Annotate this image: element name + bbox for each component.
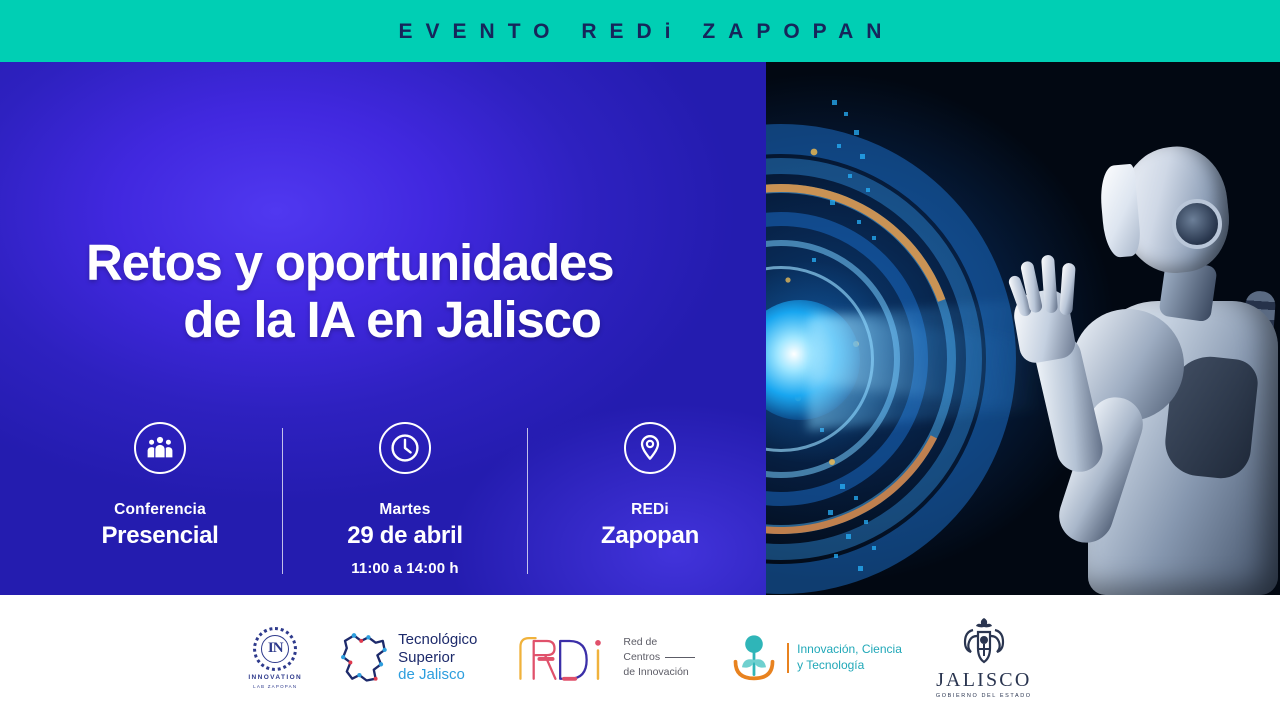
redi-wordmark-icon — [511, 629, 615, 687]
detail-time-range: 11:00 a 14:00 h — [351, 560, 458, 577]
tsj-line-3: de Jalisco — [398, 666, 477, 684]
logo-redi: Red de Centros de Innovación — [511, 629, 695, 687]
hero-section: Retos y oportunidades de la IA en Jalisc… — [0, 62, 1280, 595]
logo-innovation-badge: IN INNOVATION LAB ZAPOPAN — [248, 627, 302, 689]
banner-title: EVENTO REDi ZAPOPAN — [386, 20, 895, 44]
location-pin-icon — [624, 422, 676, 474]
clock-icon — [379, 422, 431, 474]
tsj-line-1: Tecnológico — [398, 631, 477, 649]
redi-line-1: Red de — [623, 635, 695, 650]
detail-sub-label: Martes — [379, 500, 430, 521]
detail-item-modality: Conferencia Presencial — [60, 422, 260, 552]
jalisco-wordmark: JALISCO — [936, 669, 1031, 692]
innovation-subtext: LAB ZAPOPAN — [253, 684, 297, 689]
logo-tecnologico-superior-jalisco: Tecnológico Superior de Jalisco — [336, 630, 477, 686]
event-poster: EVENTO REDi ZAPOPAN Retos y oportunidade… — [0, 0, 1280, 720]
divider-2 — [527, 428, 529, 574]
redi-tagline: Red de Centros de Innovación — [623, 635, 695, 680]
tsj-wordmark: Tecnológico Superior de Jalisco — [398, 631, 477, 684]
people-group-icon — [134, 422, 186, 474]
detail-item-date: Martes 29 de abril 11:00 a 14:00 h — [305, 422, 505, 577]
event-banner: EVENTO REDi ZAPOPAN — [0, 0, 1280, 63]
detail-main-label: Zapopan — [601, 521, 699, 552]
detail-main-label: Presencial — [101, 521, 218, 552]
tsj-line-2: Superior — [398, 649, 477, 667]
jalisco-map-icon — [336, 630, 390, 686]
plant-sprout-icon — [729, 632, 779, 684]
detail-item-venue: REDi Zapopan — [550, 422, 750, 552]
ict-line-2: y Tecnología — [797, 658, 902, 674]
ict-line-1: Innovación, Ciencia — [797, 642, 902, 658]
robot-figure — [988, 95, 1280, 595]
gear-badge-icon: IN — [253, 627, 297, 671]
redi-rule — [665, 657, 695, 658]
innovation-wordmark: INNOVATION — [248, 674, 302, 681]
detail-sub-label: Conferencia — [114, 500, 206, 521]
title-line-2: de la IA en Jalisco — [86, 291, 698, 348]
divider-1 — [282, 428, 284, 574]
redi-line-2: Centros — [623, 650, 660, 665]
jalisco-coat-of-arms-icon — [957, 616, 1011, 668]
sponsor-logo-bar: IN INNOVATION LAB ZAPOPAN Tecnológico S — [0, 595, 1280, 720]
title-line-1: Retos y oportunidades — [86, 234, 613, 291]
detail-sub-label: REDi — [631, 500, 669, 521]
logo-jalisco-gobierno: JALISCO GOBIERNO DEL ESTADO — [936, 616, 1032, 699]
ict-divider — [787, 643, 789, 673]
hero-robot-image — [766, 62, 1280, 595]
redi-line-3: de Innovación — [623, 665, 695, 680]
jalisco-subtext: GOBIERNO DEL ESTADO — [936, 693, 1032, 699]
detail-main-label: 29 de abril — [347, 521, 462, 552]
ict-wordmark: Innovación, Ciencia y Tecnología — [797, 642, 902, 673]
logo-innovacion-ciencia-tecnologia: Innovación, Ciencia y Tecnología — [729, 632, 902, 684]
page-title: Retos y oportunidades de la IA en Jalisc… — [86, 234, 726, 348]
event-details-row: Conferencia Presencial Martes 29 de abri… — [60, 422, 750, 582]
innovation-monogram: IN — [268, 640, 283, 657]
